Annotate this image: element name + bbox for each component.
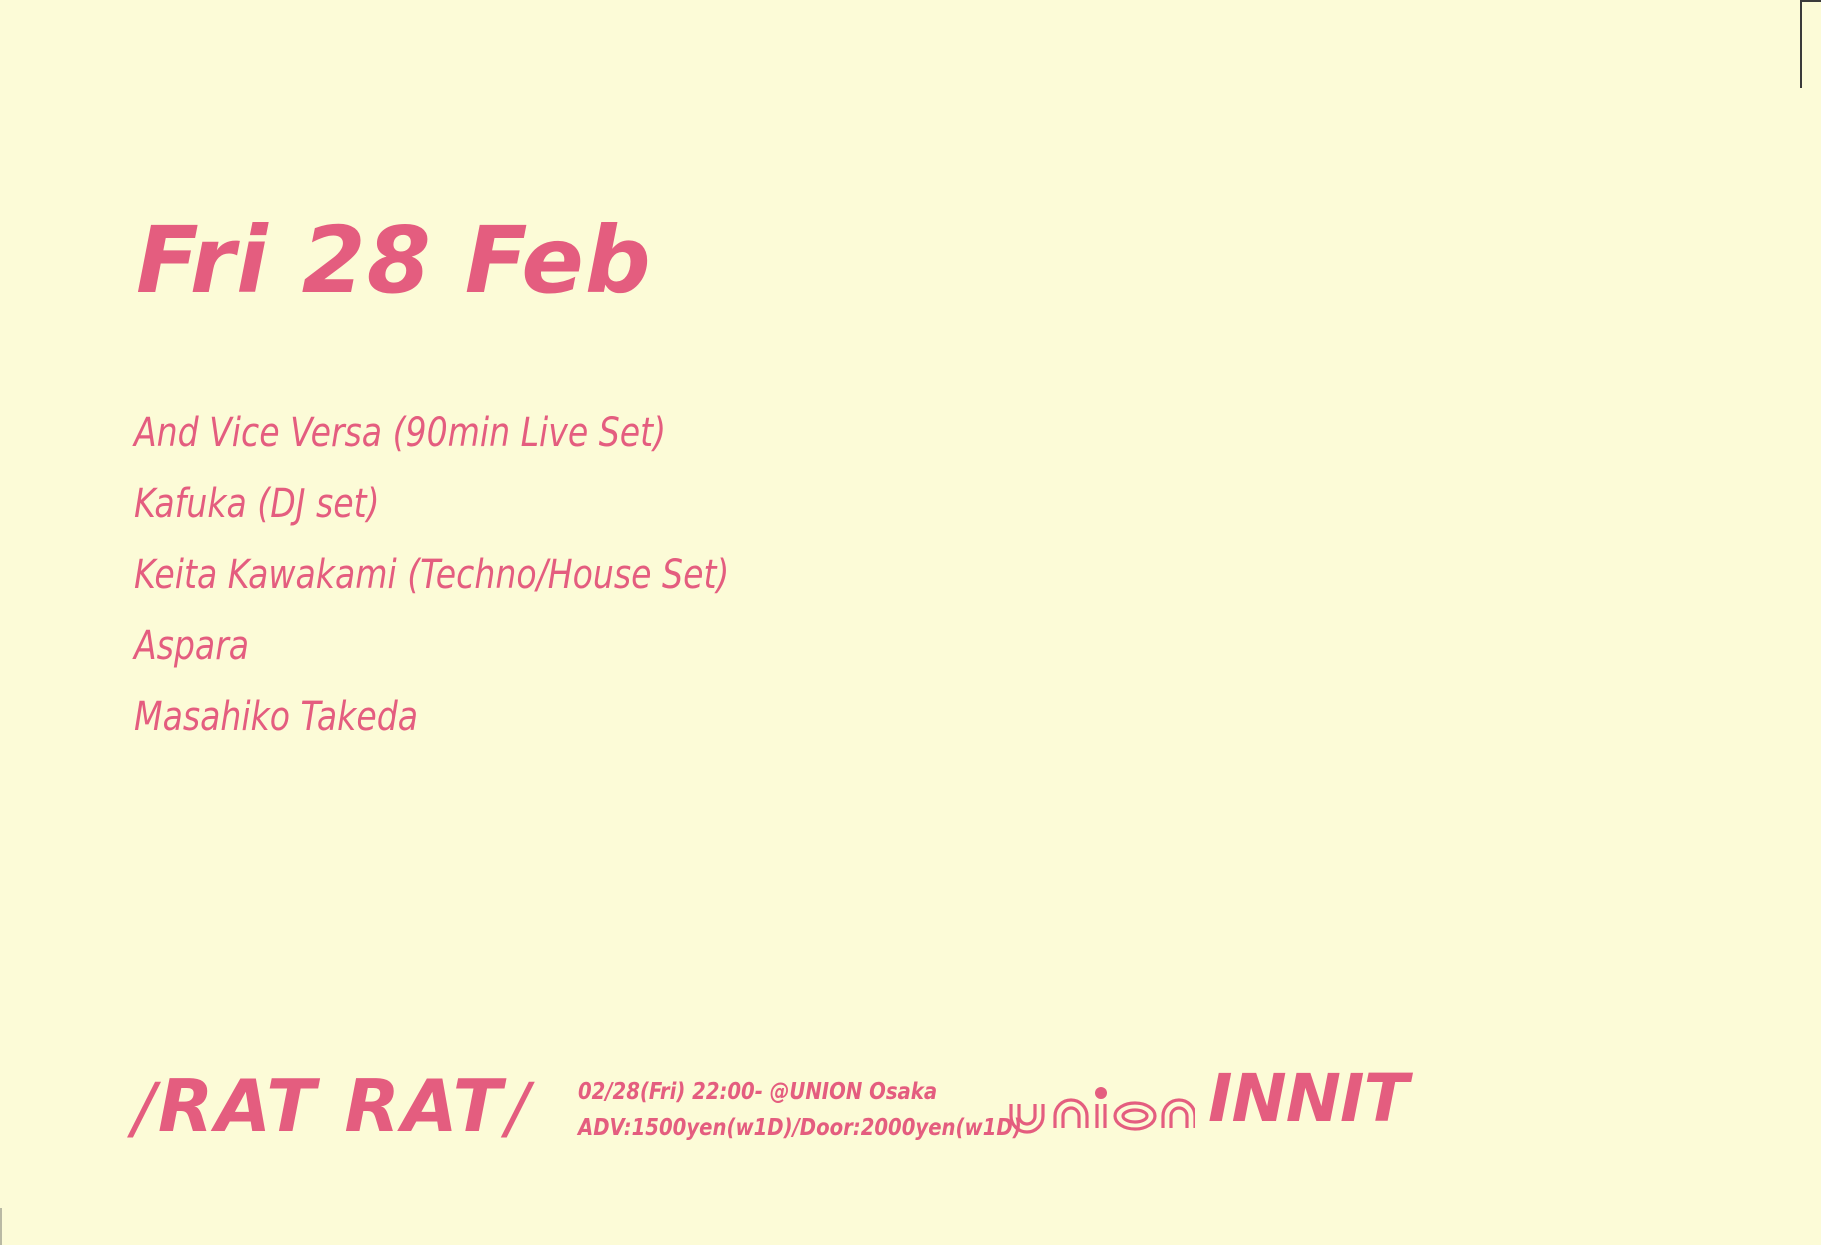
list-item: And Vice Versa (90min Live Set) bbox=[134, 398, 1238, 469]
list-item: Keita Kawakami (Techno/House Set) bbox=[134, 540, 1238, 611]
event-datetime-venue: 02/28(Fri) 22:00- @UNION Osaka bbox=[578, 1074, 1022, 1110]
window-edge-right bbox=[1800, 0, 1802, 88]
ratrat-brand-logo: /RAT RAT/ bbox=[130, 1064, 532, 1148]
brand-slash-left: / bbox=[130, 1069, 158, 1148]
poster-footer: /RAT RAT/ 02/28(Fri) 22:00- @UNION Osaka… bbox=[0, 1060, 1821, 1210]
event-pricing: ADV:1500yen(w1D)/Door:2000yen(w1D) bbox=[578, 1110, 1022, 1146]
list-item: Masahiko Takeda bbox=[134, 682, 1238, 753]
window-edge-left bbox=[0, 1208, 2, 1245]
brand-wordmark: RAT RAT bbox=[158, 1064, 504, 1148]
list-item: Kafuka (DJ set) bbox=[134, 469, 1238, 540]
union-wordmark-icon bbox=[1005, 1082, 1195, 1142]
brand-slash-right: / bbox=[504, 1069, 532, 1148]
window-edge-top bbox=[1800, 0, 1821, 2]
event-details: 02/28(Fri) 22:00- @UNION Osaka ADV:1500y… bbox=[578, 1074, 1022, 1146]
innit-brand-logo: INNIT bbox=[1208, 1060, 1408, 1137]
event-poster: Fri 28 Feb And Vice Versa (90min Live Se… bbox=[0, 0, 1821, 1245]
page-title: Fri 28 Feb bbox=[136, 213, 652, 310]
lineup-list: And Vice Versa (90min Live Set) Kafuka (… bbox=[134, 398, 1334, 753]
list-item: Aspara bbox=[134, 611, 1238, 682]
